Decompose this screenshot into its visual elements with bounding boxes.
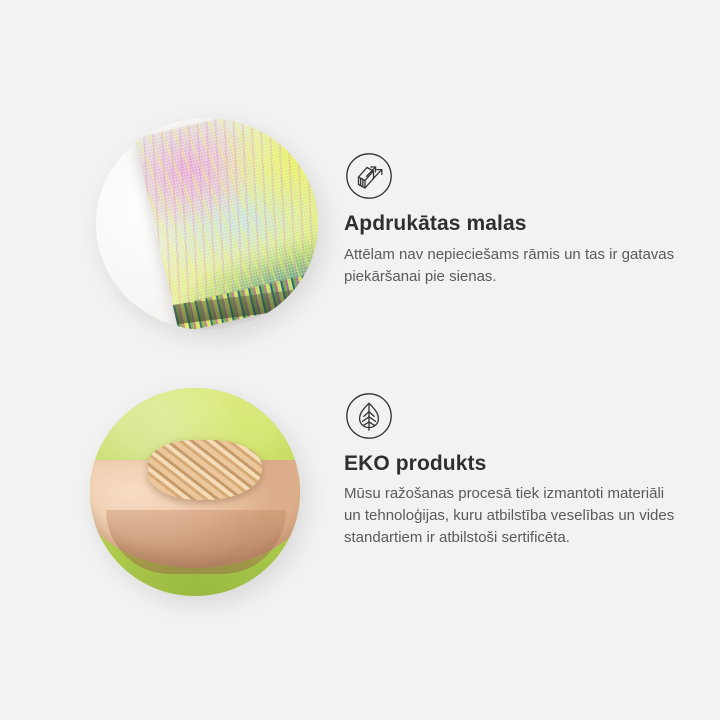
printed-canvas-corner-photo (96, 118, 318, 330)
wood-chips (148, 440, 262, 500)
feature-title-eco-product: EKO produkts (344, 452, 486, 476)
hands-holding-wood-chips-photo (90, 388, 300, 596)
leaf-icon (345, 392, 393, 440)
feature-body-eco-product: Mūsu ražošanas procesā tiek izmantoti ma… (344, 483, 684, 549)
product-features-page: Apdrukātas malas Attēlam nav nepieciešam… (0, 0, 720, 720)
feature-title-printed-edges: Apdrukātas malas (344, 212, 527, 236)
feature-body-printed-edges: Attēlam nav nepieciešams rāmis un tas ir… (344, 244, 684, 288)
canvas-wrapped-edge-icon (345, 152, 393, 200)
